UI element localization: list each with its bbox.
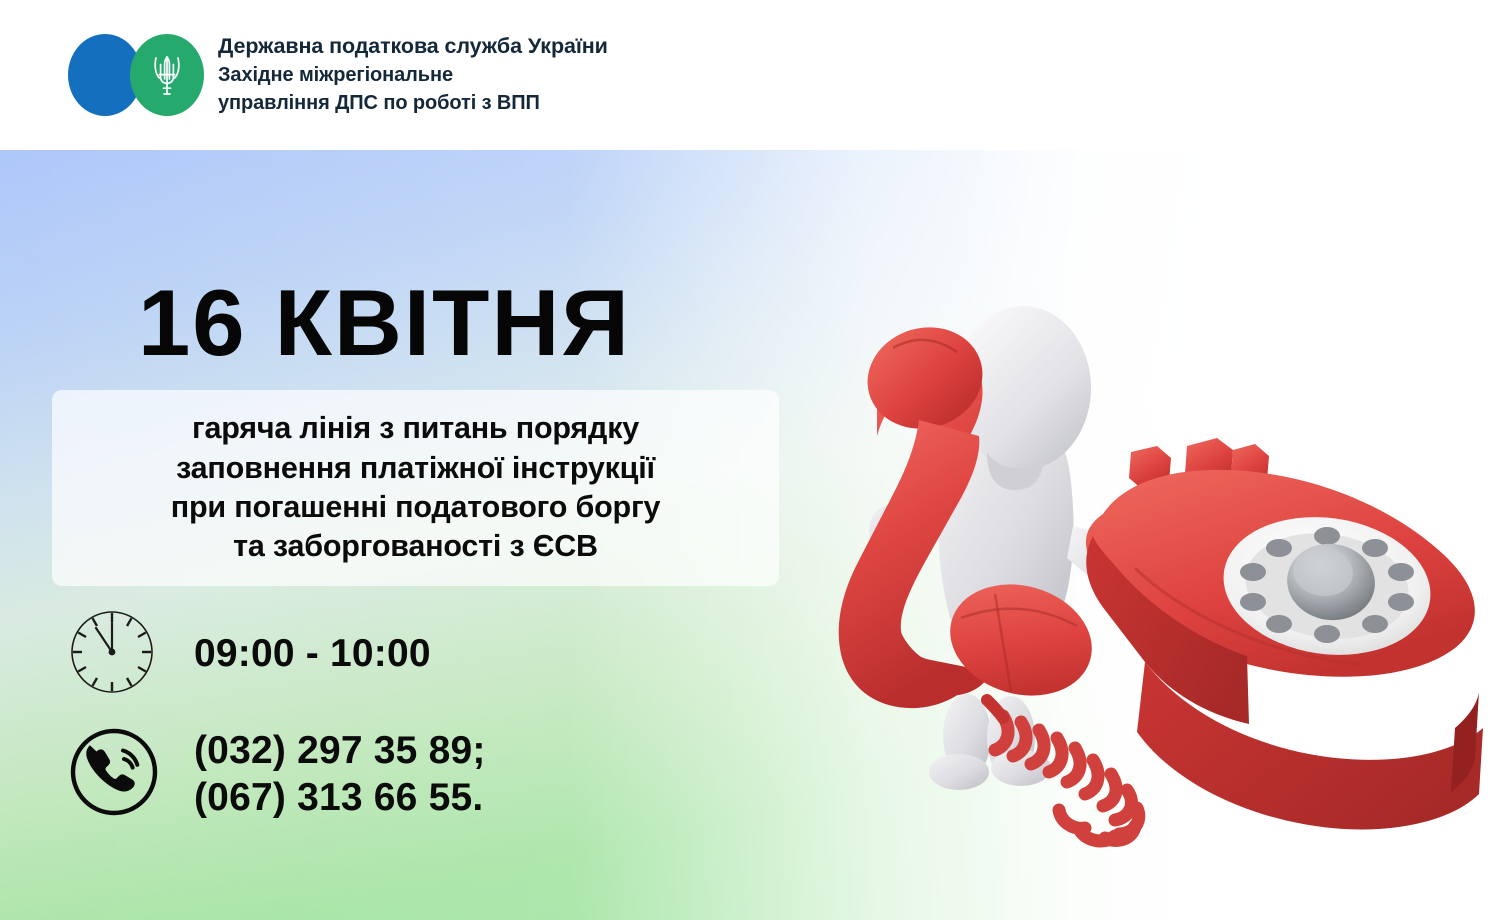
organization-logo [68,34,204,116]
organization-name-block: Державна податкова служба України Західн… [218,33,608,117]
figure-with-rotary-phone-graphic [835,268,1500,868]
hotline-phone-row: (032) 297 35 89; (067) 313 66 55. [68,726,486,823]
org-title-line2: Західне міжрегіональне [218,63,608,89]
clock-icon [68,608,156,696]
phone-call-icon [68,726,160,818]
description-panel: гаряча лінія з питань порядку заповнення… [52,390,779,586]
hotline-phone-values: (032) 297 35 89; (067) 313 66 55. [194,728,486,820]
phone-number-1: (032) 297 35 89; [194,728,486,774]
telephone-illustration [835,268,1500,868]
tryzub-trident-icon [150,52,184,98]
hotline-announcement-poster: Державна податкова служба України Західн… [0,0,1500,920]
hotline-time-value: 09:00 - 10:00 [194,631,431,677]
phone-icon-wrapper [68,726,168,823]
org-title-line1: Державна податкова служба України [218,33,608,60]
page-title: 16 КВІТНЯ [138,276,631,370]
org-title-line3: управління ДПС по роботі з ВПП [218,91,608,117]
phone-number-2: (067) 313 66 55. [194,775,486,821]
description-line-2: заповнення платіжної інструкції [176,449,655,488]
clock-icon-wrapper [68,608,168,701]
hotline-time-row: 09:00 - 10:00 [68,608,431,701]
header-bar: Державна податкова служба України Західн… [0,0,1500,150]
description-line-1: гаряча лінія з питань порядку [192,409,639,448]
description-line-3: при погашенні податового боргу [171,488,660,527]
description-line-4: та заборгованості з ЄСВ [233,527,598,566]
